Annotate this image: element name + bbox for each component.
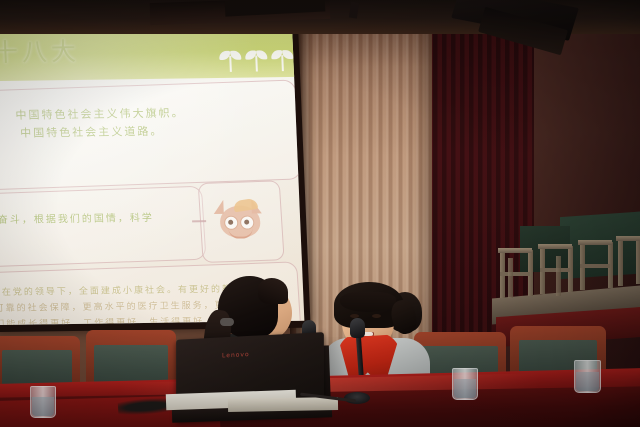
- slide-line: 中国特色社会主义伟大旗帜。: [15, 104, 185, 122]
- cat-mascot-icon: [213, 195, 267, 244]
- laptop-brand-label: Lenovo: [222, 351, 250, 359]
- photo-scene: 十八大 中国特色社会主义伟大旗帜。 中国特色社会主义道路。 力奋斗，根据我们的国…: [0, 0, 640, 427]
- slide-text-box-2: [0, 186, 206, 268]
- water-cup[interactable]: [574, 360, 601, 393]
- water-cup[interactable]: [30, 386, 56, 418]
- slide-line: 子们能成长得更好、工作得更好、生活得更好。: [0, 314, 216, 325]
- microphone-head: [350, 318, 365, 338]
- sprout-icon: [245, 47, 268, 71]
- slide-line: 力奋斗，根据我们的国情，科学: [0, 209, 154, 226]
- slide-title: 十八大: [0, 32, 81, 69]
- slide-line: 中国特色社会主义道路。: [20, 123, 164, 141]
- water-cup[interactable]: [452, 368, 478, 400]
- sprout-icon: [271, 47, 294, 71]
- sprout-icon: [219, 48, 242, 72]
- slide-connector-line: [192, 220, 206, 222]
- documents[interactable]: [228, 397, 338, 412]
